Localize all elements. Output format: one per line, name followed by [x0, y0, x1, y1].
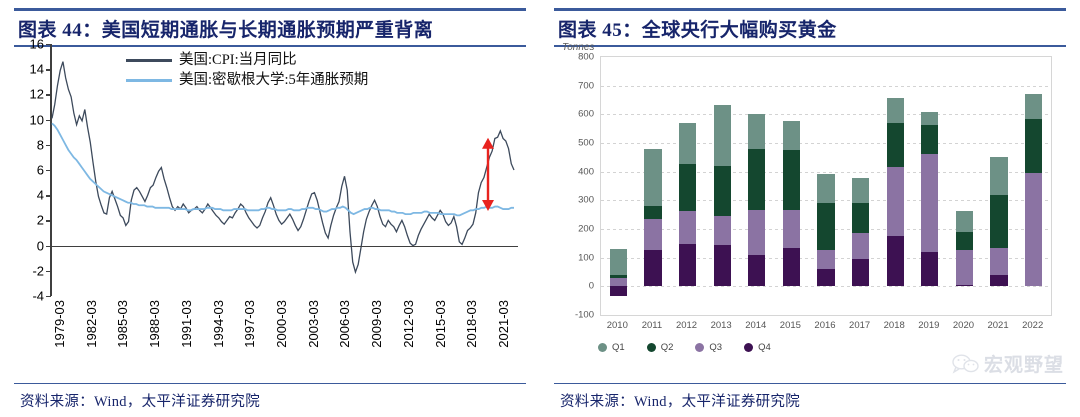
bar-group	[748, 57, 765, 315]
left-y-tick	[46, 220, 51, 221]
right-x-tick-label: 2017	[849, 320, 870, 331]
bar-segment-q4	[990, 275, 1007, 286]
bar-segment-q3	[1025, 173, 1042, 287]
bar-segment-q2	[852, 203, 869, 232]
left-y-tick-label: 4	[16, 188, 44, 203]
right-x-axis-labels: 2010201120122013201420152016201720182019…	[600, 320, 1052, 338]
bar-segment-q2	[817, 203, 834, 250]
legend-dot-q3	[695, 343, 704, 352]
left-chart-legend: 美国:CPI:当月同比 美国:密歇根大学:5年通胀预期	[126, 50, 368, 90]
right-plot-area	[600, 56, 1052, 316]
bar-segment-q3	[644, 219, 661, 251]
bar-segment-q4	[783, 248, 800, 286]
bar-segment-q1	[1025, 94, 1042, 120]
line-series-cpi	[52, 62, 514, 272]
left-y-tick-label: 6	[16, 163, 44, 178]
left-y-tick-label: 16	[16, 37, 44, 52]
right-y-tick-label: 800	[560, 52, 594, 63]
bar-group	[610, 57, 627, 315]
legend-item-cpi: 美国:CPI:当月同比	[126, 50, 368, 70]
right-x-tick-label: 2015	[780, 320, 801, 331]
bar-group	[956, 57, 973, 315]
left-x-tick-label: 2012-03	[401, 300, 416, 348]
left-y-axis: -4-20246810121416	[14, 44, 48, 296]
figure-44-footer: 资料来源：Wind，太平洋证券研究院	[14, 383, 526, 412]
legend-label-q4: Q4	[758, 342, 771, 353]
bar-segment-q2	[610, 275, 627, 279]
figure-45-source: 资料来源：Wind，太平洋证券研究院	[554, 384, 1066, 411]
legend-item-expectation: 美国:密歇根大学:5年通胀预期	[126, 70, 368, 90]
bar-segment-q2	[783, 150, 800, 210]
left-y-tick-label: 8	[16, 137, 44, 152]
right-y-tick-label: 400	[560, 166, 594, 177]
bar-group	[644, 57, 661, 315]
bar-segment-q1	[644, 149, 661, 205]
bar-group	[921, 57, 938, 315]
left-x-tick-label: 2015-03	[433, 300, 448, 348]
legend-item-q4[interactable]: Q4	[744, 342, 771, 353]
right-y-tick-label: 200	[560, 224, 594, 235]
bar-group	[887, 57, 904, 315]
bar-segment-q2	[679, 164, 696, 211]
bar-segment-q1	[610, 249, 627, 274]
bar-segment-q3	[817, 250, 834, 269]
left-y-tick	[46, 69, 51, 70]
legend-swatch-expectation	[126, 79, 172, 82]
left-x-tick-label: 2003-03	[306, 300, 321, 348]
bar-segment-q1	[956, 211, 973, 232]
bar-segment-q4	[956, 285, 973, 287]
bar-segment-q2	[956, 232, 973, 251]
bar-segment-q4	[852, 259, 869, 287]
left-y-tick	[46, 44, 51, 45]
right-x-tick-label: 2011	[642, 320, 662, 331]
bar-group	[990, 57, 1007, 315]
bar-segment-q1	[817, 174, 834, 203]
right-y-tick-label: -100	[560, 310, 594, 321]
bar-segment-q2	[921, 125, 938, 155]
bar-group	[852, 57, 869, 315]
bar-segment-q3	[610, 278, 627, 286]
left-y-tick	[46, 271, 51, 272]
left-y-tick	[46, 94, 51, 95]
figure-45-panel: 图表 45：全球央行大幅购买黄金 Tonnes -100010020030040…	[540, 0, 1080, 417]
bar-segment-q1	[887, 98, 904, 123]
left-x-tick-label: 2006-03	[337, 300, 352, 348]
bar-segment-q1	[921, 112, 938, 125]
bar-segment-q2	[887, 123, 904, 167]
legend-dot-q1	[598, 343, 607, 352]
right-x-tick-label: 2019	[918, 320, 939, 331]
bar-segment-q2	[990, 195, 1007, 248]
bar-group	[1025, 57, 1042, 315]
left-y-tick-label: 0	[16, 238, 44, 253]
left-y-tick-label: -4	[16, 289, 44, 304]
bar-segment-q1	[990, 157, 1007, 195]
right-y-tick-label: 600	[560, 109, 594, 120]
left-y-tick-label: -2	[16, 263, 44, 278]
right-y-axis: -1000100200300400500600700800	[554, 56, 598, 316]
left-x-tick-label: 1997-03	[242, 300, 257, 348]
right-x-tick-label: 2018	[884, 320, 905, 331]
left-x-tick-label: 2009-03	[369, 300, 384, 348]
left-x-tick-label: 2021-03	[496, 300, 511, 348]
left-x-tick-label: 1985-03	[115, 300, 130, 348]
left-y-tick	[46, 145, 51, 146]
figure-pair-page: 图表 44：美国短期通胀与长期通胀预期严重背离 -4-2024681012141…	[0, 0, 1080, 417]
left-y-tick-label: 2	[16, 213, 44, 228]
bar-segment-q3	[887, 167, 904, 236]
figure-45-title: 图表 45：全球央行大幅购买黄金	[554, 11, 1066, 45]
left-x-tick-label: 1982-03	[84, 300, 99, 348]
legend-dot-q4	[744, 343, 753, 352]
legend-swatch-cpi	[126, 59, 172, 62]
legend-item-q2[interactable]: Q2	[647, 342, 674, 353]
left-y-tick	[46, 120, 51, 121]
bar-group	[783, 57, 800, 315]
bar-segment-q4	[817, 269, 834, 286]
left-x-tick-label: 1991-03	[179, 300, 194, 348]
right-x-tick-label: 2012	[676, 320, 697, 331]
right-y-tick-label: 300	[560, 195, 594, 206]
legend-item-q3[interactable]: Q3	[695, 342, 722, 353]
right-x-tick-label: 2013	[711, 320, 732, 331]
legend-label-q2: Q2	[661, 342, 674, 353]
right-x-tick-label: 2020	[953, 320, 974, 331]
left-x-axis-labels: 1979-031982-031985-031988-031991-031994-…	[50, 300, 518, 374]
bar-group	[679, 57, 696, 315]
bar-segment-q2	[748, 149, 765, 210]
left-x-tick-label: 2000-03	[274, 300, 289, 348]
left-y-tick-label: 12	[16, 87, 44, 102]
right-x-tick-label: 2010	[607, 320, 628, 331]
bar-segment-q4	[748, 255, 765, 287]
right-chart-legend: Q1Q2Q3Q4	[598, 342, 771, 353]
right-y-tick-label: 0	[560, 281, 594, 292]
central-bank-gold-bar-chart: Tonnes -1000100200300400500600700800 201…	[554, 42, 1066, 380]
right-y-tick-label: 700	[560, 80, 594, 91]
figure-44-title: 图表 44：美国短期通胀与长期通胀预期严重背离	[14, 11, 526, 45]
left-x-tick-label: 1994-03	[211, 300, 226, 348]
bar-segment-q1	[852, 178, 869, 204]
legend-label-cpi: 美国:CPI:当月同比	[179, 50, 297, 70]
bar-segment-q1	[783, 121, 800, 150]
left-y-tick-label: 10	[16, 112, 44, 127]
bar-segment-q4	[679, 244, 696, 286]
left-y-tick	[46, 195, 51, 196]
figure-44-source: 资料来源：Wind，太平洋证券研究院	[14, 384, 526, 411]
cpi-inflation-line-chart: -4-20246810121416 美国:CPI:当月同比 美国:密歇根大学:5…	[14, 44, 526, 374]
bar-segment-q4	[714, 245, 731, 286]
right-x-tick-label: 2022	[1022, 320, 1043, 331]
right-x-tick-label: 2016	[814, 320, 835, 331]
bar-segment-q1	[679, 123, 696, 164]
bar-segment-q3	[714, 216, 731, 245]
bar-segment-q1	[748, 114, 765, 150]
legend-label-q3: Q3	[709, 342, 722, 353]
left-x-tick-label: 1988-03	[147, 300, 162, 348]
bar-group	[817, 57, 834, 315]
bar-segment-q2	[714, 166, 731, 217]
legend-item-q1[interactable]: Q1	[598, 342, 625, 353]
bar-segment-q3	[956, 250, 973, 284]
bar-group	[714, 57, 731, 315]
legend-label-q1: Q1	[612, 342, 625, 353]
left-y-tick	[46, 170, 51, 171]
legend-dot-q2	[647, 343, 656, 352]
divergence-arrow	[482, 138, 494, 211]
right-y-tick-label: 100	[560, 252, 594, 263]
right-y-tick-label: 500	[560, 138, 594, 149]
bar-segment-q4	[921, 252, 938, 286]
bar-segment-q1	[714, 105, 731, 165]
watermark-text: 宏观野望	[984, 350, 1064, 377]
bar-segment-q3	[748, 210, 765, 254]
watermark: 宏观野望	[952, 350, 1064, 377]
left-y-tick-label: 14	[16, 62, 44, 77]
bar-segment-q3	[990, 248, 1007, 275]
bar-segment-q2	[1025, 119, 1042, 172]
left-y-tick	[46, 296, 51, 297]
legend-label-expectation: 美国:密歇根大学:5年通胀预期	[179, 70, 368, 90]
line-series-expectation	[52, 123, 514, 215]
left-x-tick-label: 2018-03	[464, 300, 479, 348]
figure-44-panel: 图表 44：美国短期通胀与长期通胀预期严重背离 -4-2024681012141…	[0, 0, 540, 417]
bar-segment-q3	[921, 154, 938, 251]
bar-segment-q3	[783, 210, 800, 249]
bar-segment-q4	[610, 286, 627, 295]
right-x-tick-label: 2014	[745, 320, 766, 331]
bar-segment-q3	[679, 211, 696, 244]
left-x-tick-label: 1979-03	[52, 300, 67, 348]
bar-segment-q4	[887, 236, 904, 286]
bar-segment-q3	[852, 233, 869, 259]
bar-segment-q2	[644, 206, 661, 219]
wechat-icon	[952, 354, 980, 374]
bar-segment-q4	[644, 250, 661, 286]
figure-45-footer: 资料来源：Wind，太平洋证券研究院	[554, 383, 1066, 412]
left-zero-line	[50, 246, 518, 247]
right-x-tick-label: 2021	[987, 320, 1008, 331]
